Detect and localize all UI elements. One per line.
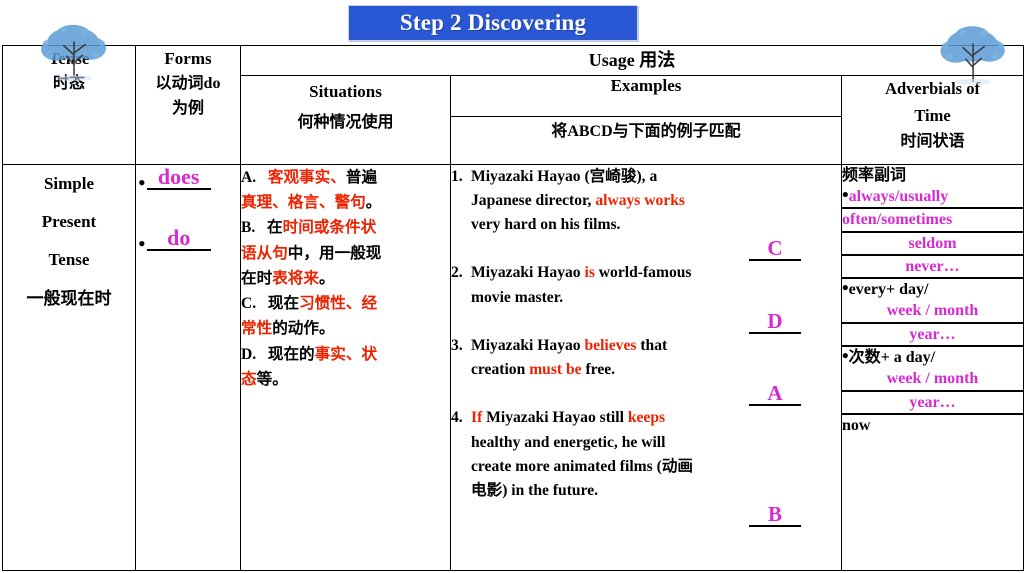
header-examples-en: Examples (451, 76, 842, 116)
bullet-icon: • (842, 346, 849, 367)
situation-text: 真理、格言、警句 (241, 194, 366, 211)
table-header-row-1: Tense 时态 Forms 以动词do 为例 Usage 用法 (3, 46, 1024, 76)
cell-situations: A. 客观事实、普遍真理、格言、警句。B. 在时间或条件状语从句中，用一般现在时… (241, 164, 451, 570)
header-usage: Usage 用法 (241, 46, 1024, 76)
example-line: create more animated films (动画 (471, 455, 841, 479)
situation-line: D. 现在的事实、状 (241, 342, 450, 367)
cell-tense-simple-present: Simple Present Tense 一般现在时 (3, 164, 136, 570)
tense-line-4: 一般现在时 (3, 280, 135, 318)
example-fragment: keeps (628, 409, 665, 426)
adverbial-line: •every+ day/ (842, 279, 1023, 300)
situation-label: A. (241, 169, 256, 186)
header-adverbials-cn: 时间状语 (842, 129, 1023, 155)
form-blank-item: •do (136, 226, 240, 251)
situation-text: 中，用一般现 (288, 245, 382, 262)
answer-blank-wrap: B (451, 503, 841, 527)
example-line: If Miyazaki Hayao still keeps (471, 406, 841, 430)
situation-text: 在 (255, 219, 282, 236)
slide-title-text: Step 2 Discovering (400, 10, 586, 36)
example-fragment: Miyazaki Hayao still (482, 409, 628, 426)
situation-line: 真理、格言、警句。 (241, 190, 450, 215)
answer-blank-wrap: C (451, 237, 841, 261)
adverbial-line[interactable]: never… (842, 256, 1023, 279)
header-adverbials: Adverbials of Time 时间状语 (842, 76, 1024, 165)
example-fragment: healthy and energetic, he will (471, 434, 665, 451)
examples-list: 1.Miyazaki Hayao (宫崎骏), aJapanese direct… (451, 165, 841, 527)
header-forms-cn1: 以动词do (136, 72, 240, 97)
situation-line: 语从句中，用一般现 (241, 241, 450, 266)
example-text: Miyazaki Hayao believes thatcreation mus… (471, 334, 841, 382)
header-forms-cn2: 为例 (136, 97, 240, 122)
example-fragment: If (471, 409, 482, 426)
situation-text: 习惯性、经 (299, 295, 377, 312)
adverbial-text: never… (905, 258, 959, 275)
header-adverbials-en1: Adverbials of (842, 76, 1023, 102)
example-item: 4.If Miyazaki Hayao still keepshealthy a… (451, 406, 841, 527)
header-forms-en: Forms (136, 46, 240, 72)
situation-line: 常性的动作。 (241, 316, 450, 341)
example-fragment: 电影) in the future. (471, 482, 598, 499)
example-text: Miyazaki Hayao is world-famousmovie mast… (471, 261, 841, 309)
adverbial-text: seldom (909, 235, 957, 252)
example-number: 2. (451, 261, 471, 309)
header-adverbials-en2: Time (842, 103, 1023, 129)
situation-text: 等。 (257, 371, 288, 388)
answer-blank-wrap: D (451, 310, 841, 334)
situation-text: 态 (241, 371, 257, 388)
adverbial-text: year… (909, 394, 955, 411)
bullet-icon: • (842, 278, 849, 299)
adverbial-line[interactable]: often/sometimes (842, 209, 1023, 232)
header-situations-en: Situations (241, 76, 450, 108)
answer-blank-C[interactable]: C (749, 238, 801, 261)
situation-text: 现在的 (256, 346, 314, 363)
adverbial-line: •次数+ a day/ (842, 347, 1023, 368)
example-line: healthy and energetic, he will (471, 431, 841, 455)
example-fragment: very hard on his films. (471, 216, 620, 233)
answer-blank-B[interactable]: B (749, 504, 801, 527)
adverbial-line: now (842, 415, 1023, 436)
example-fragment: world-famous (595, 264, 692, 281)
cell-adverbials: 频率副词•always/usuallyoften/sometimesseldom… (842, 164, 1024, 570)
example-item: 1.Miyazaki Hayao (宫崎骏), aJapanese direct… (451, 165, 841, 262)
cell-examples: 1.Miyazaki Hayao (宫崎骏), aJapanese direct… (451, 164, 842, 570)
header-forms: Forms 以动词do 为例 (136, 46, 241, 165)
example-line: Miyazaki Hayao is world-famous (471, 261, 841, 285)
example-fragment: is (584, 264, 594, 281)
example-fragment: Miyazaki Hayao (471, 337, 584, 354)
situation-text: 现在 (256, 295, 299, 312)
adverbial-text: often/sometimes (842, 211, 952, 228)
example-fragment: free. (582, 361, 615, 378)
situation-text: 表将来 (272, 270, 319, 287)
answer-blank-wrap: A (451, 382, 841, 406)
situation-label: B. (241, 219, 255, 236)
adverbial-text: every+ day/ (849, 281, 929, 298)
situation-line: A. 客观事实、普遍 (241, 165, 450, 190)
adverbial-text: week / month (887, 370, 979, 387)
header-situations-cn: 何种情况使用 (241, 108, 450, 138)
cell-forms: •does•do (136, 164, 241, 570)
grammar-table: Tense 时态 Forms 以动词do 为例 Usage 用法 Situati… (2, 45, 1024, 571)
table-row: Simple Present Tense 一般现在时 •does•do A. 客… (3, 164, 1024, 570)
form-answer-do[interactable]: do (147, 226, 211, 251)
adverbial-text: week / month (887, 302, 979, 319)
situation-line: B. 在时间或条件状 (241, 215, 450, 240)
tense-line-3: Tense (3, 241, 135, 279)
example-text: If Miyazaki Hayao still keepshealthy and… (471, 406, 841, 503)
situation-text: 普遍 (346, 169, 377, 186)
example-text: Miyazaki Hayao (宫崎骏), aJapanese director… (471, 165, 841, 237)
example-fragment: creation (471, 361, 529, 378)
adverbial-line[interactable]: •always/usually (842, 186, 1023, 209)
example-line: creation must be free. (471, 358, 841, 382)
header-tense-cn: 时态 (3, 72, 135, 97)
example-item: 3.Miyazaki Hayao believes thatcreation m… (451, 334, 841, 406)
situation-text: 时间或条件状 (283, 219, 377, 236)
example-fragment: Miyazaki Hayao (宫崎骏), a (471, 168, 657, 185)
answer-blank-A[interactable]: A (749, 383, 801, 406)
example-fragment: always works (595, 192, 685, 209)
header-situations: Situations 何种情况使用 (241, 76, 451, 165)
slide-title-banner: Step 2 Discovering (348, 5, 638, 41)
adverbial-line[interactable]: week / month (842, 368, 1023, 391)
situation-line: 在时表将来。 (241, 266, 450, 291)
adverbial-line[interactable]: week / month (842, 300, 1023, 323)
example-line: Miyazaki Hayao believes that (471, 334, 841, 358)
bullet-icon: • (138, 175, 146, 190)
example-fragment: must be (529, 361, 581, 378)
adverbial-line[interactable]: year… (842, 324, 1023, 347)
adverbial-text: 频率副词 (842, 167, 906, 184)
form-answer-does[interactable]: does (147, 165, 211, 190)
situation-text: 。 (366, 194, 382, 211)
example-fragment: create more animated films (动画 (471, 458, 693, 475)
example-number: 3. (451, 334, 471, 382)
situation-line: C. 现在习惯性、经 (241, 291, 450, 316)
adverbial-text: always/usually (849, 188, 949, 205)
situation-text: 常性 (241, 320, 272, 337)
bullet-icon: • (138, 236, 146, 251)
adverbial-line[interactable]: seldom (842, 233, 1023, 256)
tense-line-1: Simple (3, 165, 135, 203)
situation-text: 事实、状 (315, 346, 377, 363)
adverbial-text: now (842, 417, 870, 434)
situation-label: C. (241, 295, 256, 312)
adverbial-line: 频率副词 (842, 165, 1023, 186)
example-number: 4. (451, 406, 471, 503)
adverbial-text: 次数+ a day/ (849, 349, 935, 366)
situation-text: 语从句 (241, 245, 288, 262)
answer-blank-D[interactable]: D (749, 311, 801, 334)
form-blank-item: •does (136, 165, 240, 190)
situation-text: 在时 (241, 270, 272, 287)
example-line: Miyazaki Hayao (宫崎骏), a (471, 165, 841, 189)
example-fragment: believes (584, 337, 636, 354)
example-line: 电影) in the future. (471, 479, 841, 503)
situation-text: 。 (319, 270, 335, 287)
situation-line: 态等。 (241, 367, 450, 392)
example-item: 2.Miyazaki Hayao is world-famousmovie ma… (451, 261, 841, 333)
example-fragment: that (636, 337, 667, 354)
header-examples-cn: 将ABCD与下面的例子匹配 (451, 116, 842, 164)
example-line: very hard on his films. (471, 213, 841, 237)
example-fragment: Miyazaki Hayao (471, 264, 584, 281)
situation-label: D. (241, 346, 256, 363)
tense-line-2: Present (3, 203, 135, 241)
adverbial-line[interactable]: year… (842, 392, 1023, 415)
adverbial-text: year… (909, 326, 955, 343)
header-tense: Tense 时态 (3, 46, 136, 165)
example-line: Japanese director, always works (471, 189, 841, 213)
header-tense-en: Tense (3, 46, 135, 72)
example-line: movie master. (471, 286, 841, 310)
example-fragment: movie master. (471, 289, 563, 306)
example-fragment: Japanese director, (471, 192, 595, 209)
situation-text: 客观事实、 (256, 169, 346, 186)
situation-text: 的动作。 (272, 320, 334, 337)
example-number: 1. (451, 165, 471, 237)
bullet-icon: • (842, 185, 849, 206)
